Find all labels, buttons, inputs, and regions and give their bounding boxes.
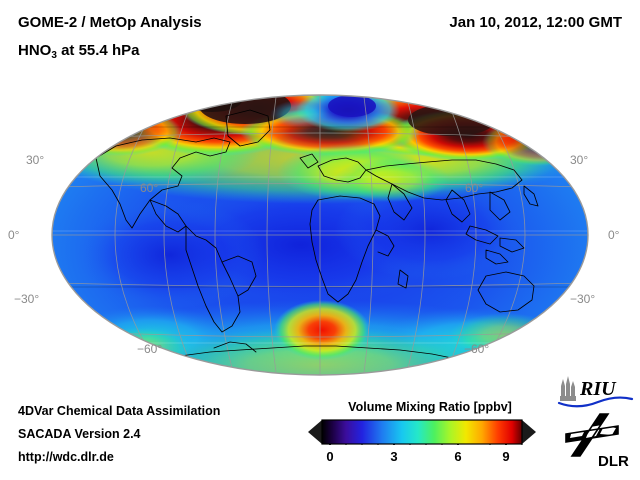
map-panel: 60° 30° 0° −30° −60° 60° 30° 0° −30° −60…: [0, 80, 640, 390]
dlr-wordmark: DLR: [598, 453, 629, 470]
lat-label-60-right: 60°: [465, 181, 483, 195]
lat-label-0-right: 0°: [608, 228, 619, 242]
lat-label-60-left: 60°: [140, 181, 158, 195]
lat-label-minus60-left: −60°: [137, 342, 162, 356]
colorbar-tick-3: 3: [384, 449, 404, 464]
lat-label-30-right: 30°: [570, 153, 588, 167]
pressure-level-label: at 55.4 hPa: [57, 42, 140, 59]
colorbar-svg: [306, 419, 538, 445]
colorbar-tick-6: 6: [448, 449, 468, 464]
colorbar-title: Volume Mixing Ratio [ppbv]: [318, 400, 542, 414]
lat-label-30-left: 30°: [26, 153, 44, 167]
lat-label-minus30-right: −30°: [570, 292, 595, 306]
lat-label-minus30-left: −30°: [14, 292, 39, 306]
colorbar-gradient: [322, 420, 522, 444]
colorbar-extend-low: [308, 420, 322, 444]
cathedral-towers-icon: [560, 376, 576, 401]
dlr-mark-icon: [566, 414, 618, 456]
colorbar-tick-0: 0: [320, 449, 340, 464]
world-map-hammer-projection: [0, 80, 640, 390]
colorbar-tick-9: 9: [496, 449, 516, 464]
timestamp-label: Jan 10, 2012, 12:00 GMT: [449, 14, 622, 31]
colorbar: [306, 419, 538, 445]
page-title: GOME-2 / MetOp Analysis: [18, 14, 202, 31]
url-label[interactable]: http://wdc.dlr.de: [18, 450, 114, 464]
riu-logo: RIU: [556, 374, 634, 408]
colorbar-extend-high: [522, 420, 536, 444]
lat-label-minus60-right: −60°: [464, 342, 489, 356]
version-label: SACADA Version 2.4: [18, 427, 141, 441]
dlr-logo: DLR: [562, 412, 634, 470]
figure-root: GOME-2 / MetOp Analysis HNO3 at 55.4 hPa…: [0, 0, 640, 480]
method-label: 4DVar Chemical Data Assimilation: [18, 404, 220, 418]
species-subscript: 3: [51, 50, 57, 61]
species-pressure-label: HNO3 at 55.4 hPa: [18, 42, 139, 59]
riu-wordmark: RIU: [579, 378, 617, 400]
species-label: HNO: [18, 42, 51, 59]
lat-label-0-left: 0°: [8, 228, 19, 242]
